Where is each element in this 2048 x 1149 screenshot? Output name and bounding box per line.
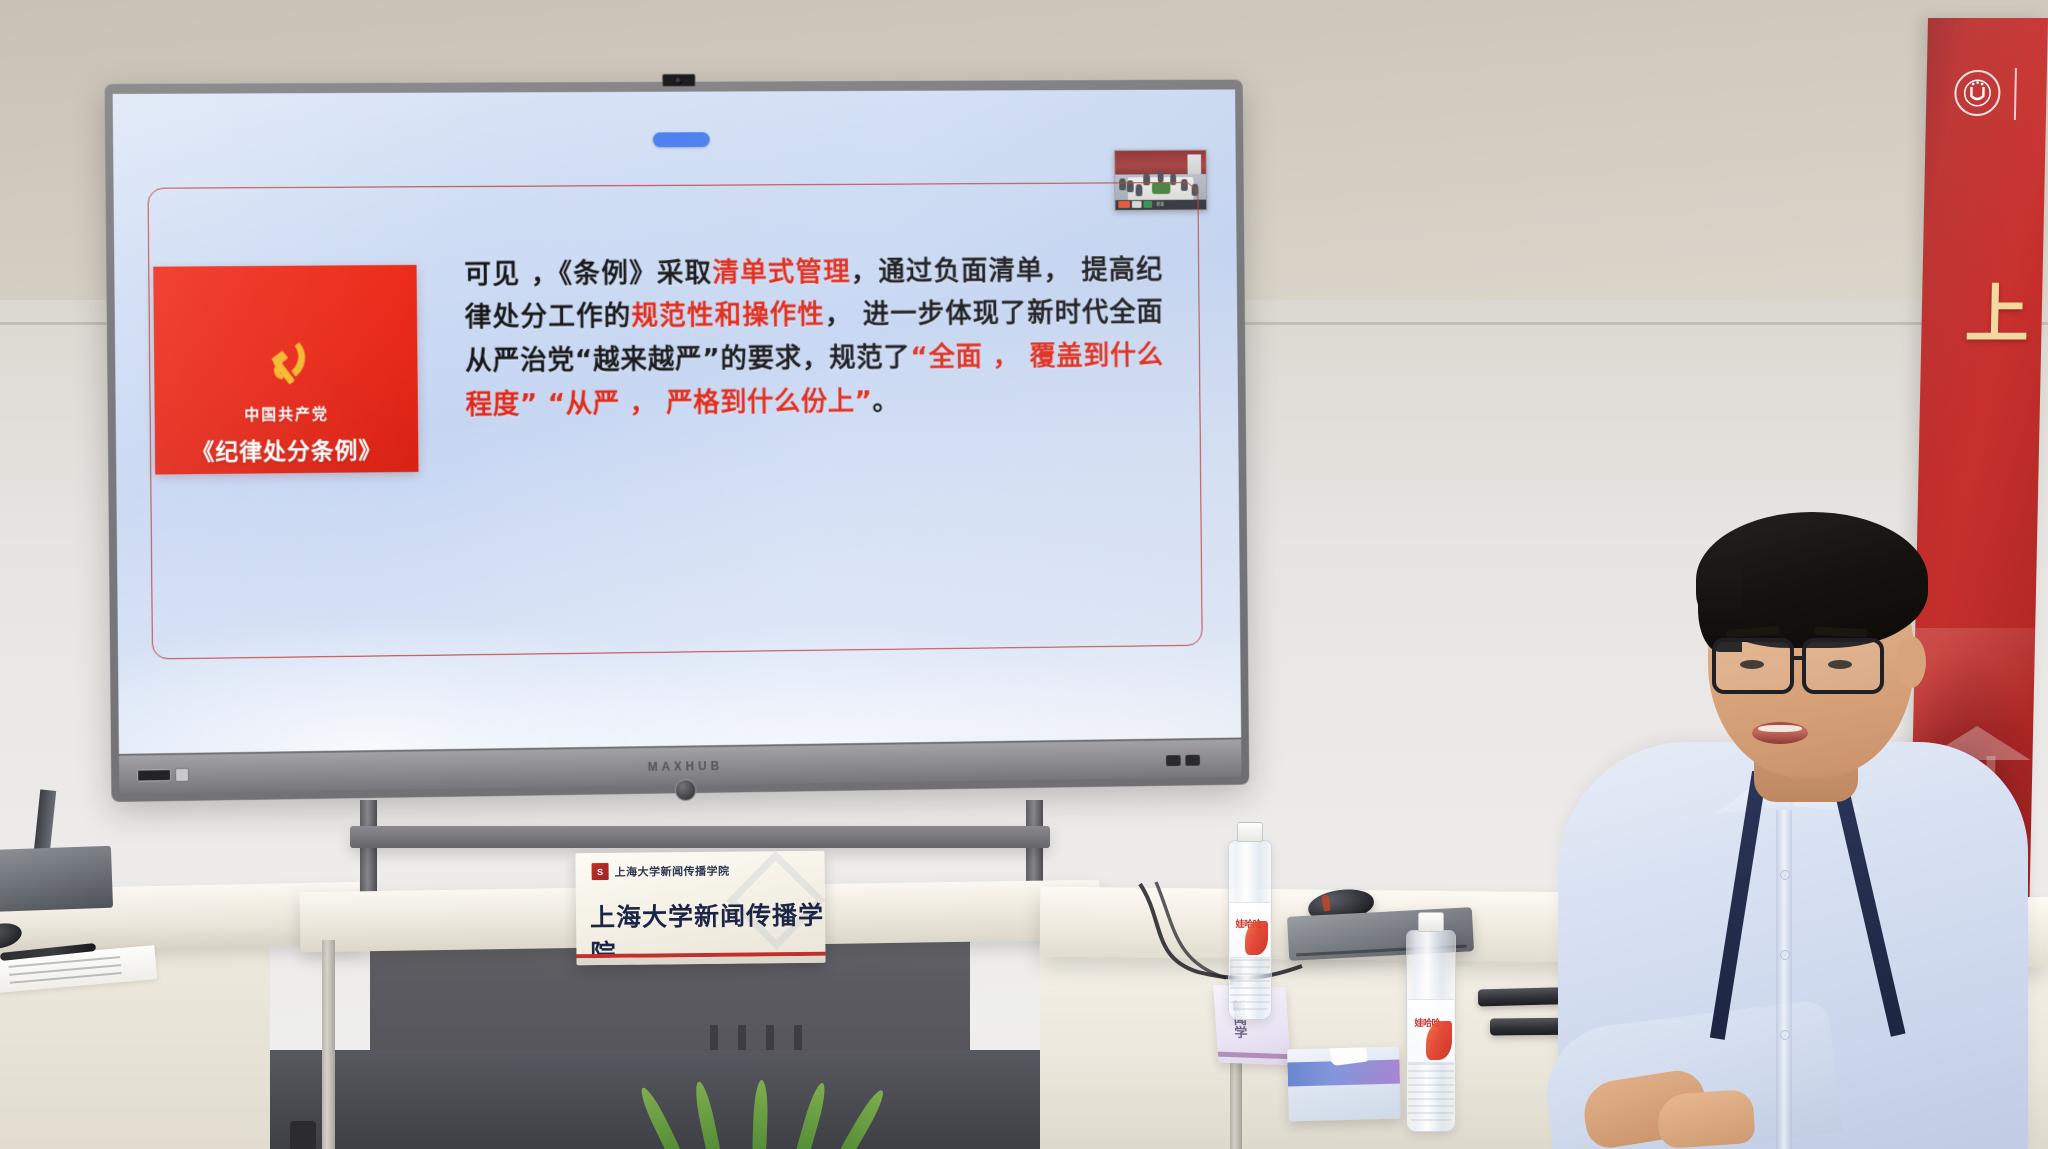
bottle-label: 娃哈哈 <box>1408 999 1454 1063</box>
display-stand-shelf <box>350 826 1050 848</box>
nameplate-header: S 上海大学新闻传播学院 <box>592 862 730 880</box>
stand-caster-wheel <box>290 1121 316 1149</box>
shirt-button <box>1780 1030 1790 1040</box>
display-camera-icon <box>662 74 695 87</box>
floating-toolbar-handle[interactable] <box>653 132 710 147</box>
eyeglasses-lens <box>1712 638 1794 694</box>
tissue-pack <box>1287 1047 1401 1122</box>
desk-nameplate: S 上海大学新闻传播学院 上海大学新闻传播学院 <box>575 851 825 966</box>
person-hair <box>1696 512 1928 648</box>
shirt-placket <box>1776 810 1792 1149</box>
display-bezel: 会议 <box>113 89 1242 753</box>
display-usb-port <box>1166 755 1181 766</box>
water-bottle: 娃哈哈 <box>1406 930 1456 1132</box>
shirt-button <box>1780 950 1790 960</box>
interactive-flat-panel-display[interactable]: 会议 <box>105 80 1250 802</box>
conference-room-scene: 上 <box>0 0 2048 1149</box>
slide-run-highlight: 清单式管理 <box>712 257 851 289</box>
person-mouth <box>1752 722 1808 744</box>
emblem-title: 《纪律处分条例》 <box>191 431 382 467</box>
eyeglasses-bridge <box>1792 656 1806 660</box>
slide-body-text: 可见 ，《条例》采取清单式管理，通过负面清单， 提高纪律处分工作的规范性和操作性… <box>464 249 1164 428</box>
bottle-cap <box>1418 912 1444 932</box>
display-sensor-icon <box>175 768 189 782</box>
laptop-left <box>0 846 113 913</box>
bottle-ribs <box>1230 959 1270 1012</box>
eyeglasses-lens <box>1802 638 1884 694</box>
bottle-cap <box>1237 822 1263 842</box>
plant-leaf <box>794 1081 829 1149</box>
display-hdmi-port <box>1185 754 1200 765</box>
display-io-panel-left[interactable] <box>137 765 199 786</box>
slide-run: 可见 ，《条例》采取 <box>464 258 712 290</box>
display-screen[interactable]: 会议 <box>113 89 1242 753</box>
bottle-ribs <box>1408 1063 1454 1123</box>
shirt-button <box>1780 870 1790 880</box>
hammer-and-sickle-icon <box>225 334 347 399</box>
display-card-slot <box>137 769 171 781</box>
bottle-swoosh-icon <box>1245 921 1268 955</box>
video-thumb-person <box>1157 170 1163 182</box>
nameplate-small-text: 上海大学新闻传播学院 <box>615 862 730 879</box>
seated-man-speaking <box>1540 510 2048 1149</box>
display-brand-label: MAXHUB <box>648 759 723 774</box>
tent-card-rule <box>1218 1052 1291 1060</box>
emblem-subtitle: 中国共产党 <box>244 403 329 425</box>
potted-plant <box>660 1078 890 1149</box>
slide-run-highlight: 规范性和操作性 <box>631 300 825 332</box>
slide-run: 。 <box>872 386 899 417</box>
banner-title: 上 <box>1957 280 2026 344</box>
plant-leaf <box>752 1080 769 1149</box>
bottle-label: 娃哈哈 <box>1230 902 1270 959</box>
center-table-leg <box>322 940 335 1149</box>
nameplate-logo-icon: S <box>592 863 609 880</box>
cpc-regulations-emblem-card: 中国共产党 《纪律处分条例》 <box>153 265 419 475</box>
plant-leaf <box>837 1087 888 1149</box>
water-bottle: 娃哈哈 <box>1228 840 1272 1020</box>
plant-leaf <box>692 1080 722 1149</box>
person-hand <box>1656 1089 1756 1149</box>
person-ear <box>1896 636 1926 688</box>
display-io-panel-right[interactable] <box>1166 752 1216 768</box>
